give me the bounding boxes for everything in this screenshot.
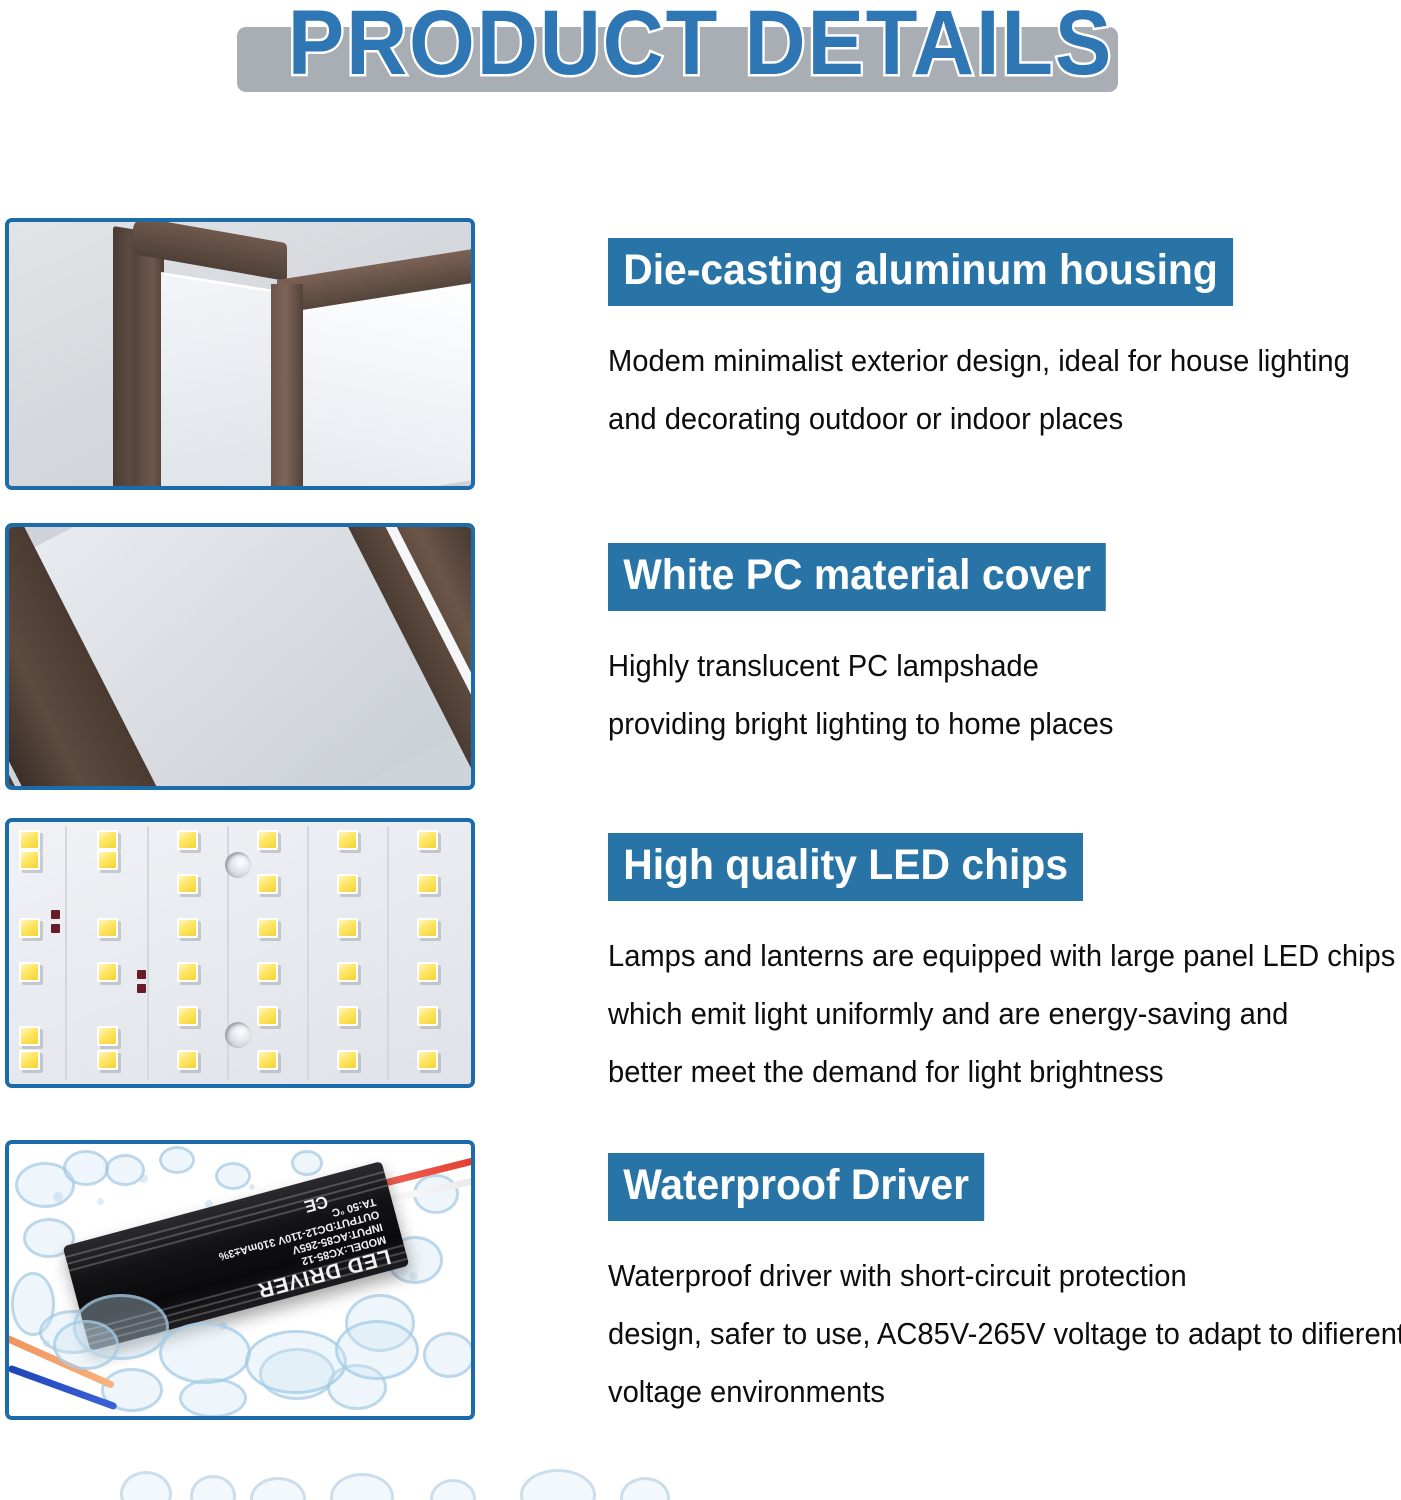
housing-corner-post bbox=[271, 284, 303, 490]
feature-body-4-line-2: design, safer to use, AC85V-265V voltage… bbox=[608, 1305, 1401, 1363]
water-splash-bleed bbox=[190, 1475, 236, 1500]
feature-body-3-line-1: Lamps and lanterns are equipped with lar… bbox=[608, 927, 1395, 985]
feature-body-2-line-2: providing bright lighting to home places bbox=[608, 695, 1113, 753]
page-title: PRODUCT DETAILS bbox=[56, 0, 1345, 92]
water-splash-bleed bbox=[120, 1471, 172, 1500]
led-chip bbox=[257, 962, 278, 982]
led-chip bbox=[257, 874, 278, 894]
mounting-hole bbox=[225, 852, 251, 878]
water-splash-front bbox=[53, 1320, 119, 1370]
white-pc-cover-photo bbox=[5, 523, 475, 790]
resistor bbox=[51, 910, 60, 919]
led-chip bbox=[417, 918, 438, 938]
led-chip bbox=[19, 1026, 40, 1046]
led-chip bbox=[337, 962, 358, 982]
water-splash-bleed bbox=[620, 1477, 670, 1500]
pcb-trace bbox=[387, 826, 389, 1080]
feature-content-3: High quality LED chips Lamps and lantern… bbox=[608, 833, 1401, 1101]
resistor bbox=[137, 970, 146, 979]
feature-content-2: White PC material cover Highly transluce… bbox=[608, 543, 1146, 753]
feature-body-4-line-1: Waterproof driver with short-circuit pro… bbox=[608, 1247, 1401, 1305]
led-chip bbox=[337, 918, 358, 938]
water-splash-bleed bbox=[330, 1473, 394, 1500]
water-splash-bleed bbox=[430, 1479, 476, 1500]
feature-body-3-line-3: better meet the demand for light brightn… bbox=[608, 1043, 1395, 1101]
led-chip-board-photo bbox=[5, 818, 475, 1088]
next-section-bleed bbox=[0, 1455, 1401, 1500]
led-chip bbox=[177, 1050, 198, 1070]
water-splash bbox=[423, 1332, 475, 1378]
feature-heading-4: Waterproof Driver bbox=[608, 1153, 984, 1221]
feature-content-1: Die-casting aluminum housing Modem minim… bbox=[608, 238, 1397, 448]
water-splash bbox=[179, 1378, 247, 1418]
resistor bbox=[137, 984, 146, 993]
resistor bbox=[51, 924, 60, 933]
housing-panel-right bbox=[303, 279, 475, 490]
led-chip bbox=[257, 1050, 278, 1070]
led-chip bbox=[257, 1006, 278, 1026]
water-droplet bbox=[139, 1174, 148, 1183]
mounting-hole bbox=[225, 1022, 251, 1048]
water-droplet bbox=[409, 1272, 418, 1281]
led-chip bbox=[177, 962, 198, 982]
led-chip bbox=[19, 1050, 40, 1070]
led-chip bbox=[177, 874, 198, 894]
water-splash bbox=[159, 1146, 195, 1174]
led-chip bbox=[177, 918, 198, 938]
pcb-trace bbox=[65, 826, 67, 1080]
led-chip bbox=[257, 918, 278, 938]
water-droplet bbox=[97, 1198, 104, 1205]
water-splash-bleed bbox=[250, 1477, 306, 1500]
led-chip bbox=[97, 1026, 118, 1046]
feature-body-1-line-2: and decorating outdoor or indoor places bbox=[608, 390, 1350, 448]
housing-panel-left bbox=[161, 272, 273, 490]
led-chip bbox=[177, 1006, 198, 1026]
feature-body-3: Lamps and lanterns are equipped with lar… bbox=[608, 927, 1395, 1101]
water-splash bbox=[291, 1150, 323, 1176]
feature-body-2: Highly translucent PC lampshade providin… bbox=[608, 637, 1113, 753]
page-title-banner: PRODUCT DETAILS bbox=[0, 0, 1401, 120]
led-chip bbox=[337, 830, 358, 850]
feature-body-3-line-2: which emit light uniformly and are energ… bbox=[608, 985, 1395, 1043]
feature-body-1-line-1: Modem minimalist exterior design, ideal … bbox=[608, 332, 1350, 390]
feature-body-4-line-3: voltage environments bbox=[608, 1363, 1401, 1421]
water-splash bbox=[215, 1162, 251, 1190]
feature-heading-1: Die-casting aluminum housing bbox=[608, 238, 1233, 306]
led-chip bbox=[97, 962, 118, 982]
aluminum-housing-corner-photo bbox=[5, 218, 475, 490]
led-chip bbox=[417, 1050, 438, 1070]
feature-content-4: Waterproof Driver Waterproof driver with… bbox=[608, 1153, 1401, 1421]
water-splash bbox=[63, 1150, 109, 1186]
led-chip bbox=[337, 1006, 358, 1026]
led-chip bbox=[97, 850, 118, 870]
feature-body-1: Modem minimalist exterior design, ideal … bbox=[608, 332, 1350, 448]
feature-heading-2: White PC material cover bbox=[608, 543, 1106, 611]
feature-heading-3: High quality LED chips bbox=[608, 833, 1083, 901]
led-chip bbox=[337, 874, 358, 894]
led-chip bbox=[97, 1050, 118, 1070]
water-splash-front bbox=[159, 1322, 251, 1384]
water-droplet bbox=[249, 1184, 255, 1190]
water-droplet bbox=[53, 1192, 63, 1202]
water-droplet bbox=[43, 1340, 50, 1347]
water-splash-bleed bbox=[520, 1469, 596, 1500]
led-chip bbox=[19, 850, 40, 870]
led-chip bbox=[97, 918, 118, 938]
pcb-trace bbox=[147, 826, 149, 1080]
waterproof-driver-photo: CE LED DRIVER MODEL:XC85-12 INPUT:AC85-2… bbox=[5, 1140, 475, 1420]
feature-body-4: Waterproof driver with short-circuit pro… bbox=[608, 1247, 1401, 1421]
water-splash-front bbox=[245, 1330, 347, 1394]
led-chip bbox=[417, 962, 438, 982]
led-chip bbox=[97, 830, 118, 850]
water-splash-front bbox=[335, 1320, 419, 1380]
feature-body-2-line-1: Highly translucent PC lampshade bbox=[608, 637, 1113, 695]
led-chip bbox=[177, 830, 198, 850]
led-chip bbox=[19, 962, 40, 982]
led-chip bbox=[417, 830, 438, 850]
led-chip bbox=[337, 1050, 358, 1070]
led-chip bbox=[19, 918, 40, 938]
led-chip bbox=[257, 830, 278, 850]
led-chip bbox=[417, 1006, 438, 1026]
led-chip bbox=[19, 830, 40, 850]
led-chip bbox=[417, 874, 438, 894]
pcb-trace bbox=[307, 826, 309, 1080]
housing-left-edge-inner bbox=[137, 222, 164, 490]
